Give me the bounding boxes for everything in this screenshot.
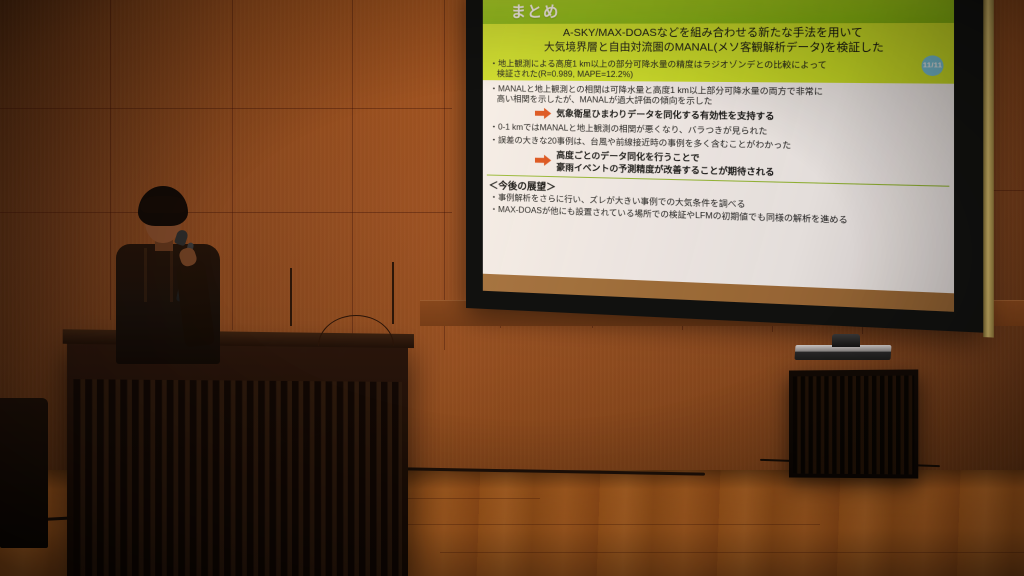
projector-lens-icon: [832, 334, 860, 347]
jacket-lapel: [144, 248, 147, 302]
lectern: [67, 340, 408, 576]
presentation-room-photo: まとめ A-SKY/MAX-DOASなどを組み合わせる新たな手法を用いて 大気境…: [0, 0, 1024, 576]
bullet-line-1: ・0-1 kmではMANALと地上観測の相関が悪くなり、バラつきが見られた: [490, 123, 768, 137]
slide-bullets: ・MANALと地上観測との相関は可降水量と高度1 km以上部分可降水量の両方で非…: [483, 82, 954, 111]
headline-line-2: 大気境界層と自由対流圏のMANAL(メソ客観解析データ)を検証した: [493, 41, 943, 56]
floor-plank-line: [440, 552, 1024, 553]
projector-stand-slats: [793, 376, 914, 475]
slide-headline-block: A-SKY/MAX-DOASなどを組み合わせる新たな手法を用いて 大気境界層と自…: [483, 23, 954, 84]
hanging-wire: [392, 262, 394, 324]
slide-bullet: ・地上観測による高度1 km以上の部分可降水量の精度はラジオゾンデとの比較によっ…: [490, 59, 947, 84]
slide-body: A-SKY/MAX-DOASなどを組み合わせる新たな手法を用いて 大気境界層と自…: [483, 23, 954, 293]
jacket-lapel: [170, 248, 173, 302]
wall-seam: [0, 108, 452, 109]
hanging-wire: [290, 268, 292, 326]
wall-seam: [444, 0, 445, 350]
right-arrow-icon: [535, 108, 551, 119]
slide-bullets-highlighted: ・地上観測による高度1 km以上の部分可降水量の精度はラジオゾンデとの比較によっ…: [483, 57, 954, 84]
slide-headline: A-SKY/MAX-DOASなどを組み合わせる新たな手法を用いて 大気境界層と自…: [483, 23, 954, 59]
slide-title: まとめ: [511, 0, 560, 21]
right-arrow-icon: [535, 155, 551, 166]
conclusion-text-1: 気象衛星ひまわりデータを同化する有効性を支持する: [556, 107, 774, 122]
projector: [794, 345, 891, 360]
projector-stand: [789, 369, 918, 478]
slide-page-badge: 11/11: [922, 55, 944, 76]
slide-title-bar: まとめ: [483, 0, 954, 24]
presenter-fringe: [140, 196, 187, 213]
wall-seam: [352, 0, 353, 340]
presenter: [96, 186, 246, 361]
screen-frame-trim: [983, 0, 994, 338]
lectern-slat-panel: [73, 379, 402, 576]
projection-screen: まとめ A-SKY/MAX-DOASなどを組み合わせる新たな手法を用いて 大気境…: [466, 0, 983, 333]
conclusion-lines-2: 高度ごとのデータ同化を行うことで 豪雨イベントの予測精度が改善することが期待され…: [556, 148, 774, 178]
floor-speaker: [0, 398, 48, 548]
bullet-line-1: ・地上観測による高度1 km以上の部分可降水量の精度はラジオゾンデとの比較によっ…: [490, 59, 827, 70]
presentation-slide: まとめ A-SKY/MAX-DOASなどを組み合わせる新たな手法を用いて 大気境…: [483, 0, 954, 312]
headline-line-1: A-SKY/MAX-DOASなどを組み合わせる新たな手法を用いて: [563, 26, 863, 39]
screen-surface: まとめ A-SKY/MAX-DOASなどを組み合わせる新たな手法を用いて 大気境…: [483, 0, 954, 312]
